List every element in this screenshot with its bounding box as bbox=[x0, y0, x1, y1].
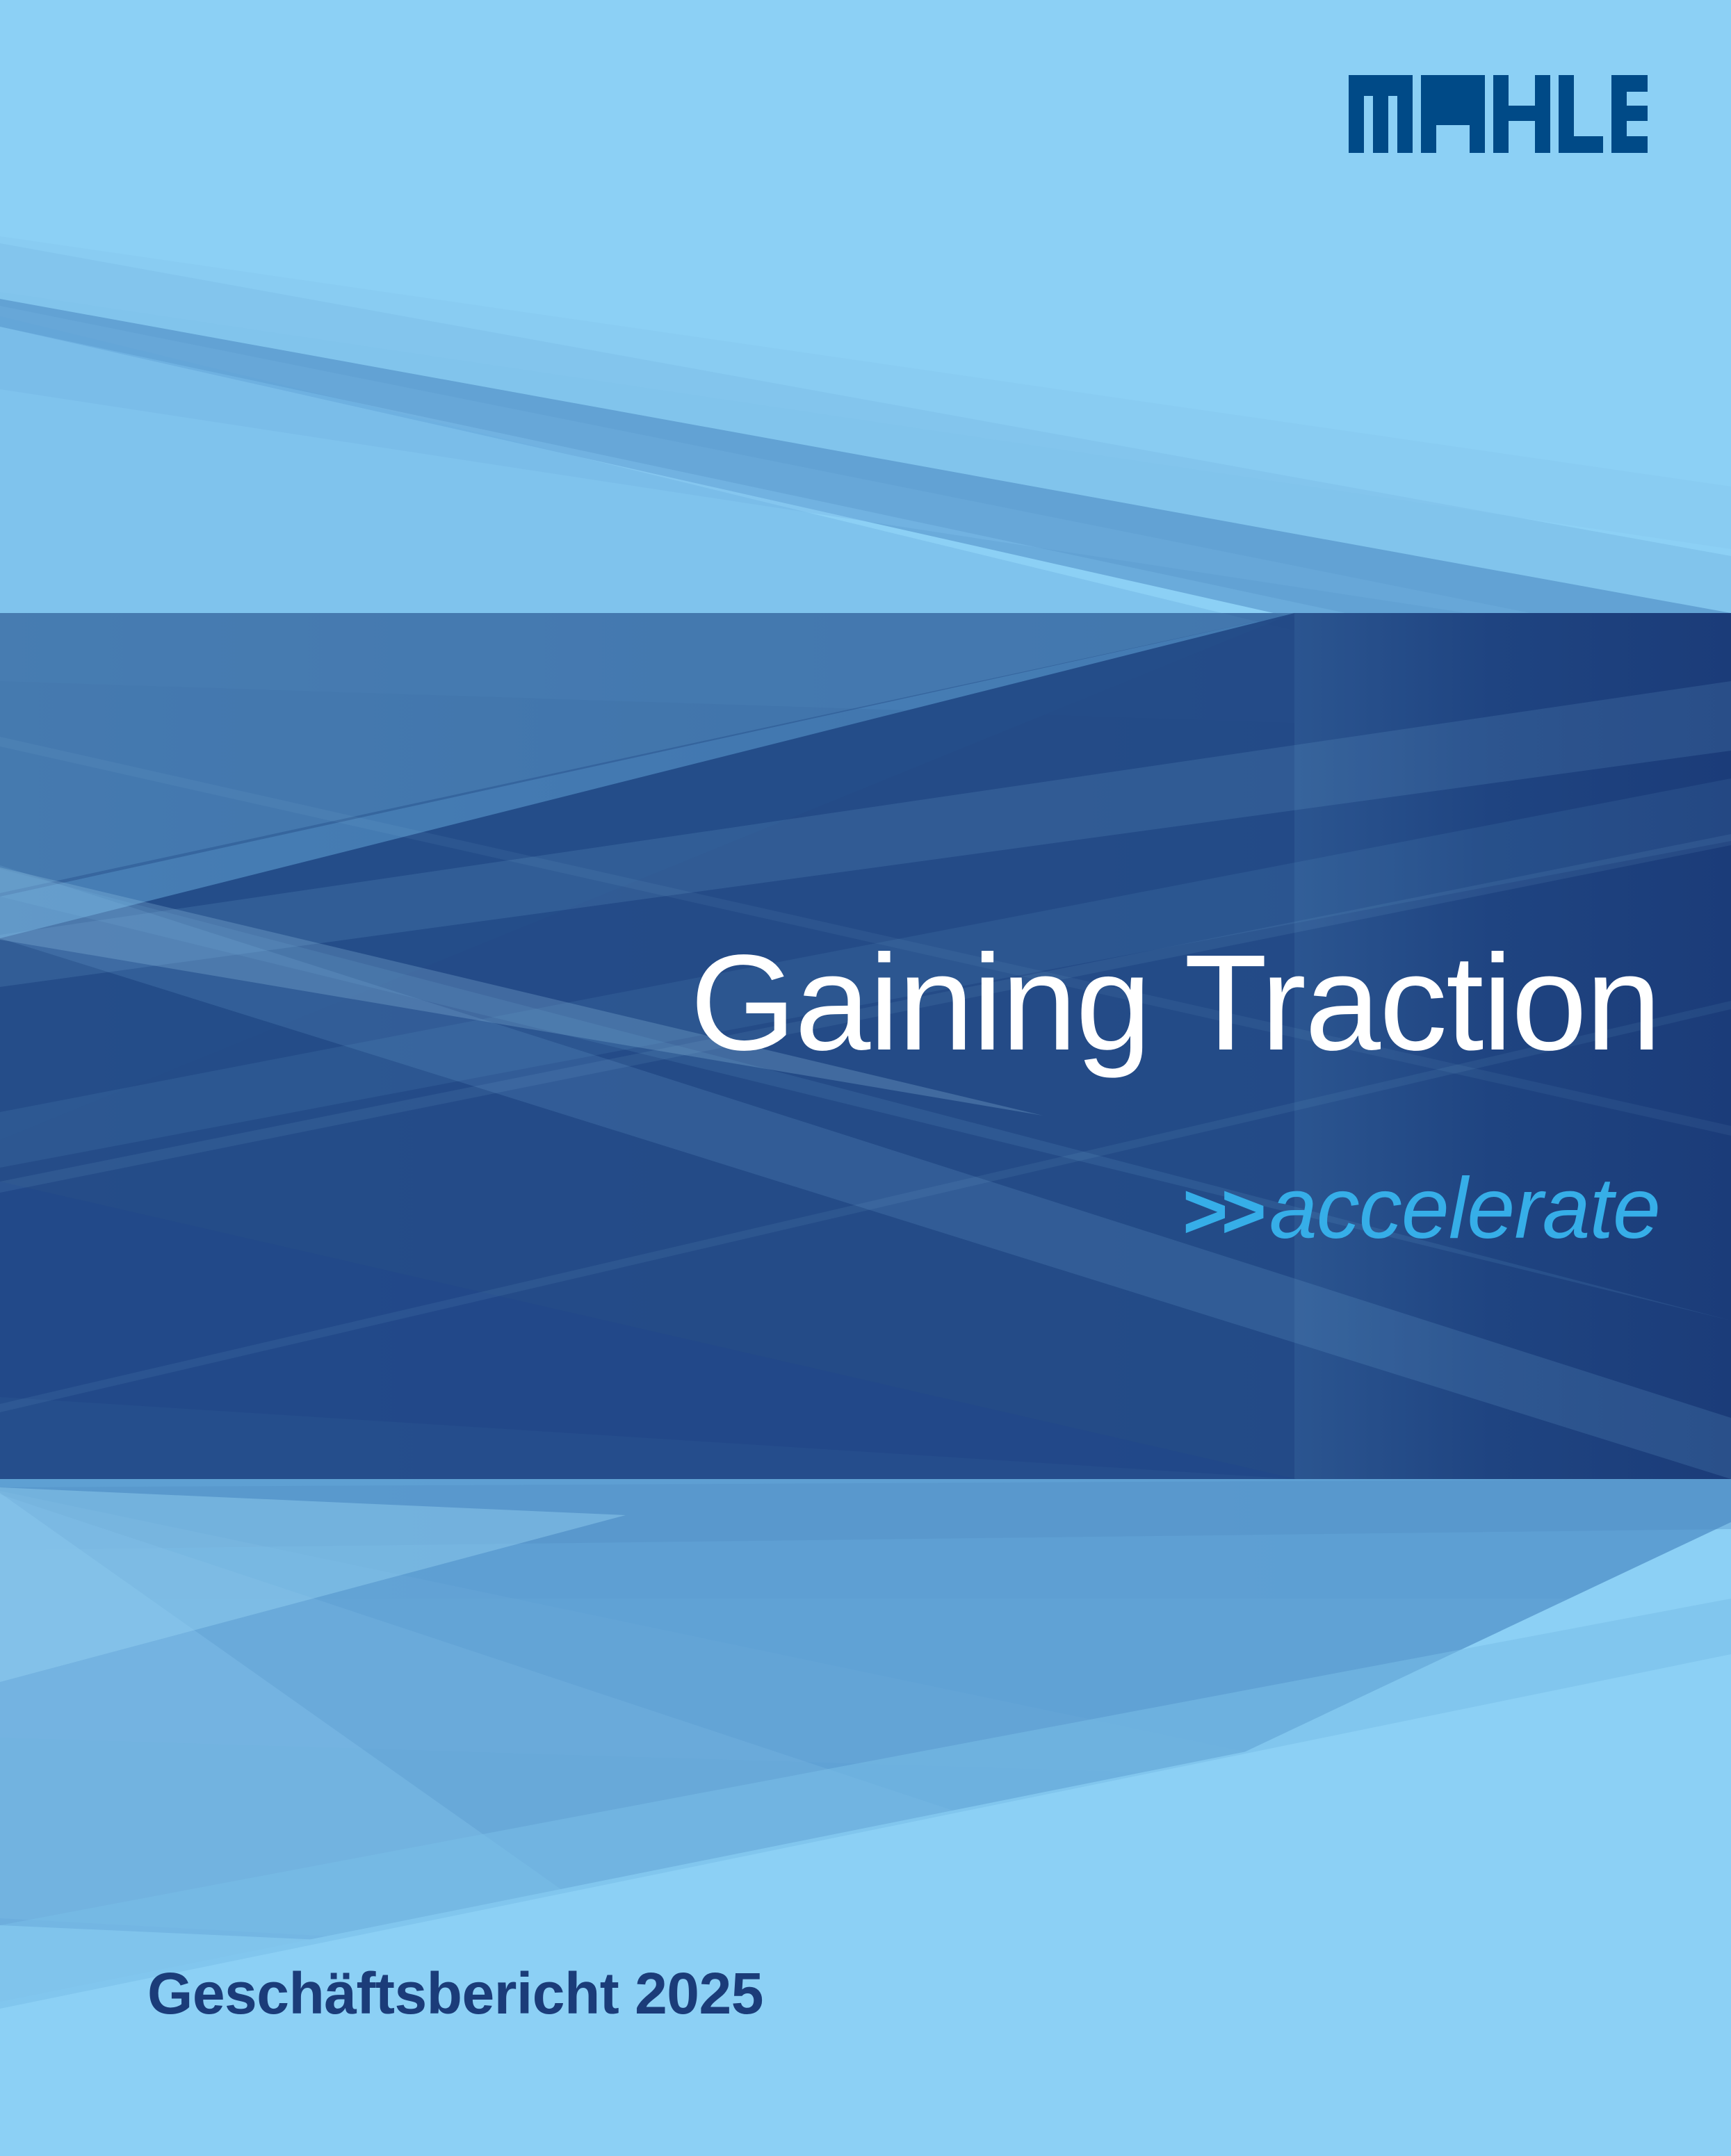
report-title-footer: Geschäftsbericht 2025 bbox=[147, 1960, 763, 2027]
cover-subline-accelerate: accelerate bbox=[1260, 1161, 1660, 1257]
mahle-wordmark-icon bbox=[1349, 75, 1648, 153]
mahle-logo bbox=[1349, 75, 1648, 153]
report-cover-page: Gaining Traction >>accelerate Geschäftsb… bbox=[0, 0, 1731, 2156]
geometric-background-artwork bbox=[0, 0, 1731, 2156]
double-chevron-right-icon: >> bbox=[1183, 1168, 1260, 1255]
cover-subline-container: >>accelerate bbox=[0, 1159, 1660, 1258]
